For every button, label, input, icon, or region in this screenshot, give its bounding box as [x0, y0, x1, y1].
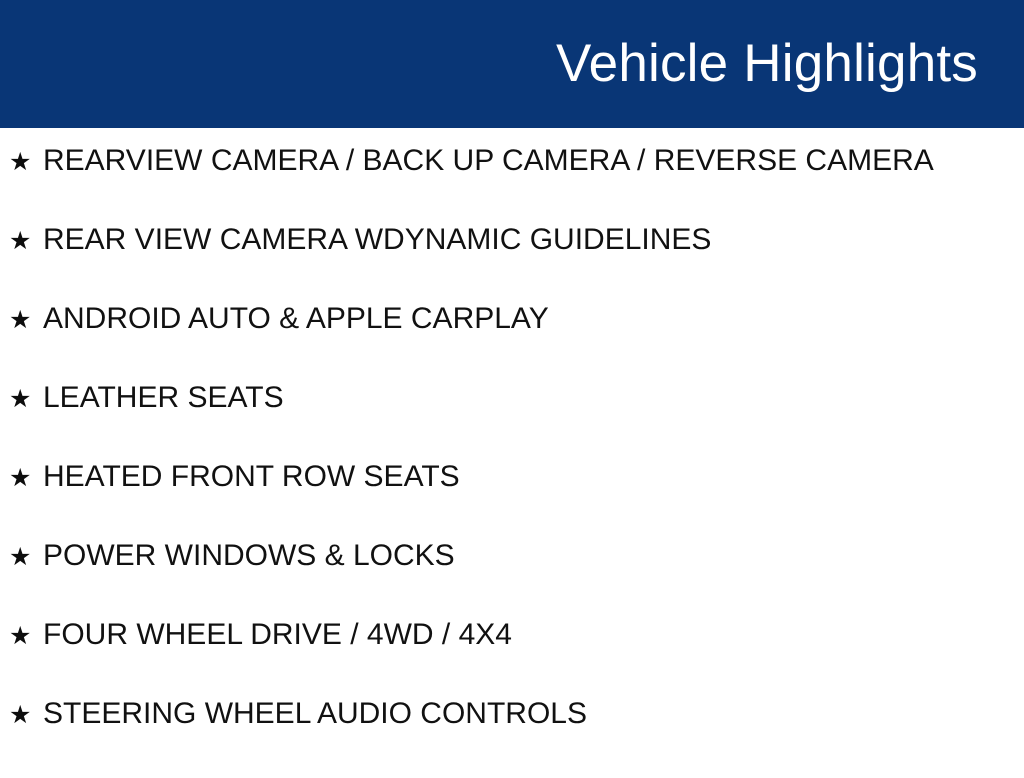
list-item-label: REAR VIEW CAMERA WDYNAMIC GUIDELINES [43, 225, 711, 255]
list-item-label: POWER WINDOWS & LOCKS [43, 541, 455, 571]
star-icon: ★ [9, 228, 43, 253]
list-item: ★ REARVIEW CAMERA / BACK UP CAMERA / REV… [0, 146, 1024, 225]
list-item: ★ STEERING WHEEL AUDIO CONTROLS [0, 699, 1024, 778]
list-item: ★ POWER WINDOWS & LOCKS [0, 541, 1024, 620]
list-item: ★ REAR VIEW CAMERA WDYNAMIC GUIDELINES [0, 225, 1024, 304]
list-item-label: FOUR WHEEL DRIVE / 4WD / 4X4 [43, 620, 512, 650]
star-icon: ★ [9, 544, 43, 569]
star-icon: ★ [9, 465, 43, 490]
list-item-label: REARVIEW CAMERA / BACK UP CAMERA / REVER… [43, 146, 934, 176]
list-item-label: STEERING WHEEL AUDIO CONTROLS [43, 699, 587, 729]
header-banner: Vehicle Highlights [0, 0, 1024, 128]
list-item-label: LEATHER SEATS [43, 383, 284, 413]
list-item: ★ FOUR WHEEL DRIVE / 4WD / 4X4 [0, 620, 1024, 699]
vehicle-highlights-list: ★ REARVIEW CAMERA / BACK UP CAMERA / REV… [0, 146, 1024, 778]
list-item: ★ ANDROID AUTO & APPLE CARPLAY [0, 304, 1024, 383]
star-icon: ★ [9, 386, 43, 411]
list-item-label: ANDROID AUTO & APPLE CARPLAY [43, 304, 549, 334]
star-icon: ★ [9, 702, 43, 727]
star-icon: ★ [9, 149, 43, 174]
list-item: ★ HEATED FRONT ROW SEATS [0, 462, 1024, 541]
vehicle-highlights-slide: Vehicle Highlights ★ REARVIEW CAMERA / B… [0, 0, 1024, 768]
star-icon: ★ [9, 307, 43, 332]
list-item-label: HEATED FRONT ROW SEATS [43, 462, 460, 492]
page-title: Vehicle Highlights [556, 36, 978, 92]
star-icon: ★ [9, 623, 43, 648]
list-item: ★ LEATHER SEATS [0, 383, 1024, 462]
